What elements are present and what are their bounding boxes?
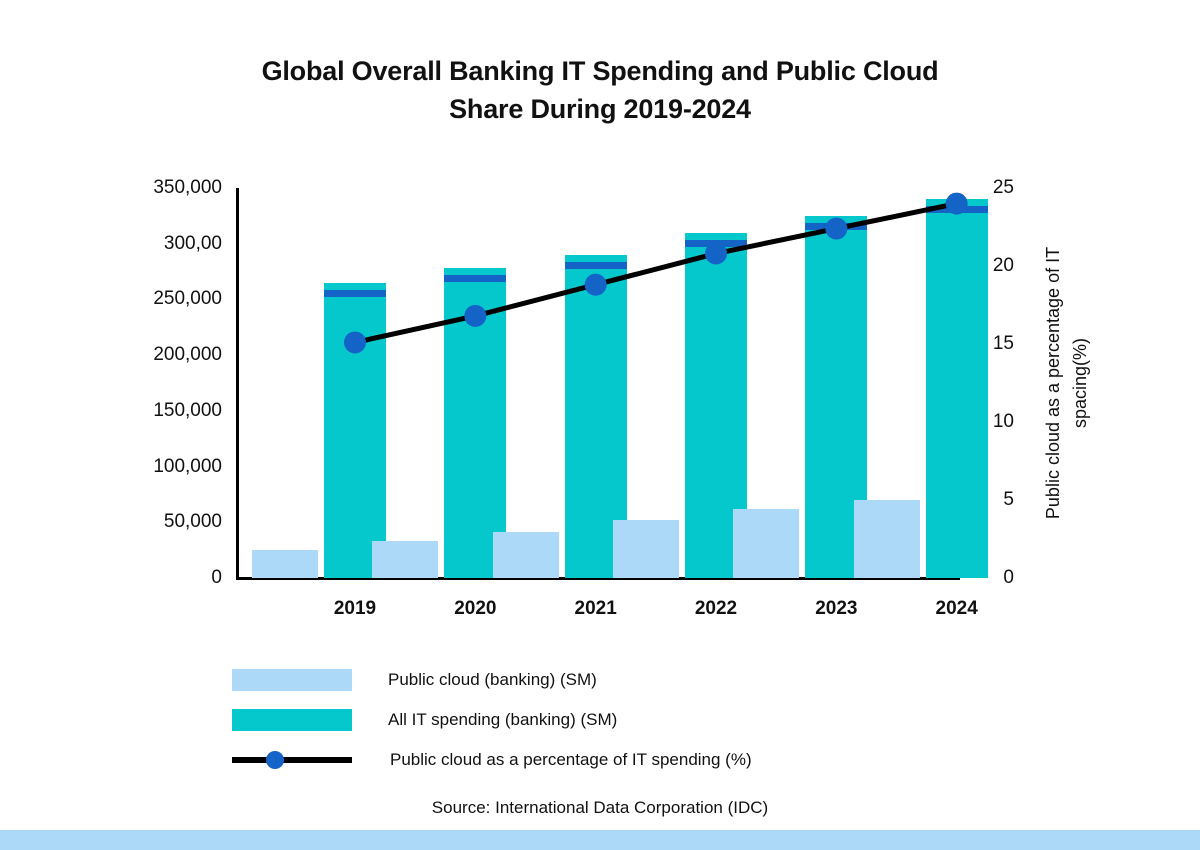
y-axis-left-tick-3: 200,000 xyxy=(153,344,222,366)
legend-label-all-it-spending: All IT spending (banking) (SM) xyxy=(388,710,617,730)
y-axis-right-title-line-1: Public cloud as a percentage of IT xyxy=(1040,247,1067,519)
y-axis-left-tick-1: 300,00 xyxy=(164,233,222,255)
percentage-marker-2024 xyxy=(946,193,968,215)
x-axis-label-2023: 2023 xyxy=(815,598,857,620)
plot-area xyxy=(238,188,960,578)
percentage-marker-2021 xyxy=(585,274,607,296)
legend-label-public-cloud: Public cloud (banking) (SM) xyxy=(388,670,597,690)
percentage-marker-2023 xyxy=(825,218,847,240)
legend-item-percentage: Public cloud as a percentage of IT spend… xyxy=(232,740,932,780)
y-axis-right-tick-4: 5 xyxy=(1003,489,1014,511)
bottom-accent-strip xyxy=(0,830,1200,850)
x-axis-label-2024: 2024 xyxy=(936,598,978,620)
y-axis-right-tick-3: 10 xyxy=(993,411,1014,433)
y-axis-right-title-line-2: spacing(%) xyxy=(1067,247,1094,519)
percentage-marker-2020 xyxy=(464,305,486,327)
percentage-line-series xyxy=(238,188,960,578)
legend-line-with-dot-icon xyxy=(232,749,352,771)
y-axis-right-tick-1: 20 xyxy=(993,255,1014,277)
y-axis-left-tick-2: 250,000 xyxy=(153,288,222,310)
legend-item-public-cloud: Public cloud (banking) (SM) xyxy=(232,660,932,700)
y-axis-left-tick-4: 150,000 xyxy=(153,400,222,422)
y-axis-left-tick-0: 350,000 xyxy=(153,177,222,199)
chart-legend: Public cloud (banking) (SM) All IT spend… xyxy=(232,660,932,780)
percentage-marker-2019 xyxy=(344,331,366,353)
percentage-line-path xyxy=(355,204,957,343)
legend-swatch-all-it-spending-icon xyxy=(232,709,352,731)
legend-dot-icon xyxy=(266,751,284,769)
legend-label-percentage: Public cloud as a percentage of IT spend… xyxy=(390,750,752,770)
y-axis-right-tick-0: 25 xyxy=(993,177,1014,199)
y-axis-left-tick-7: 0 xyxy=(211,567,222,589)
percentage-marker-2022 xyxy=(705,243,727,265)
chart-root: Global Overall Banking IT Spending and P… xyxy=(0,0,1200,850)
x-axis-label-2021: 2021 xyxy=(575,598,617,620)
y-axis-right-tick-2: 15 xyxy=(993,333,1014,355)
source-note: Source: International Data Corporation (… xyxy=(0,798,1200,818)
y-axis-right-tick-5: 0 xyxy=(1003,567,1014,589)
x-axis-label-2022: 2022 xyxy=(695,598,737,620)
y-axis-left-tick-6: 50,000 xyxy=(164,511,222,533)
y-axis-right-title: Public cloud as a percentage of IT spaci… xyxy=(1030,190,1104,576)
y-axis-left-labels: 350,000300,00250,000200,000150,000100,00… xyxy=(0,0,222,850)
legend-swatch-public-cloud-icon xyxy=(232,669,352,691)
x-axis-label-2019: 2019 xyxy=(334,598,376,620)
y-axis-left-tick-5: 100,000 xyxy=(153,456,222,478)
legend-line-icon xyxy=(232,757,352,763)
legend-item-all-it-spending: All IT spending (banking) (SM) xyxy=(232,700,932,740)
x-axis-label-2020: 2020 xyxy=(454,598,496,620)
